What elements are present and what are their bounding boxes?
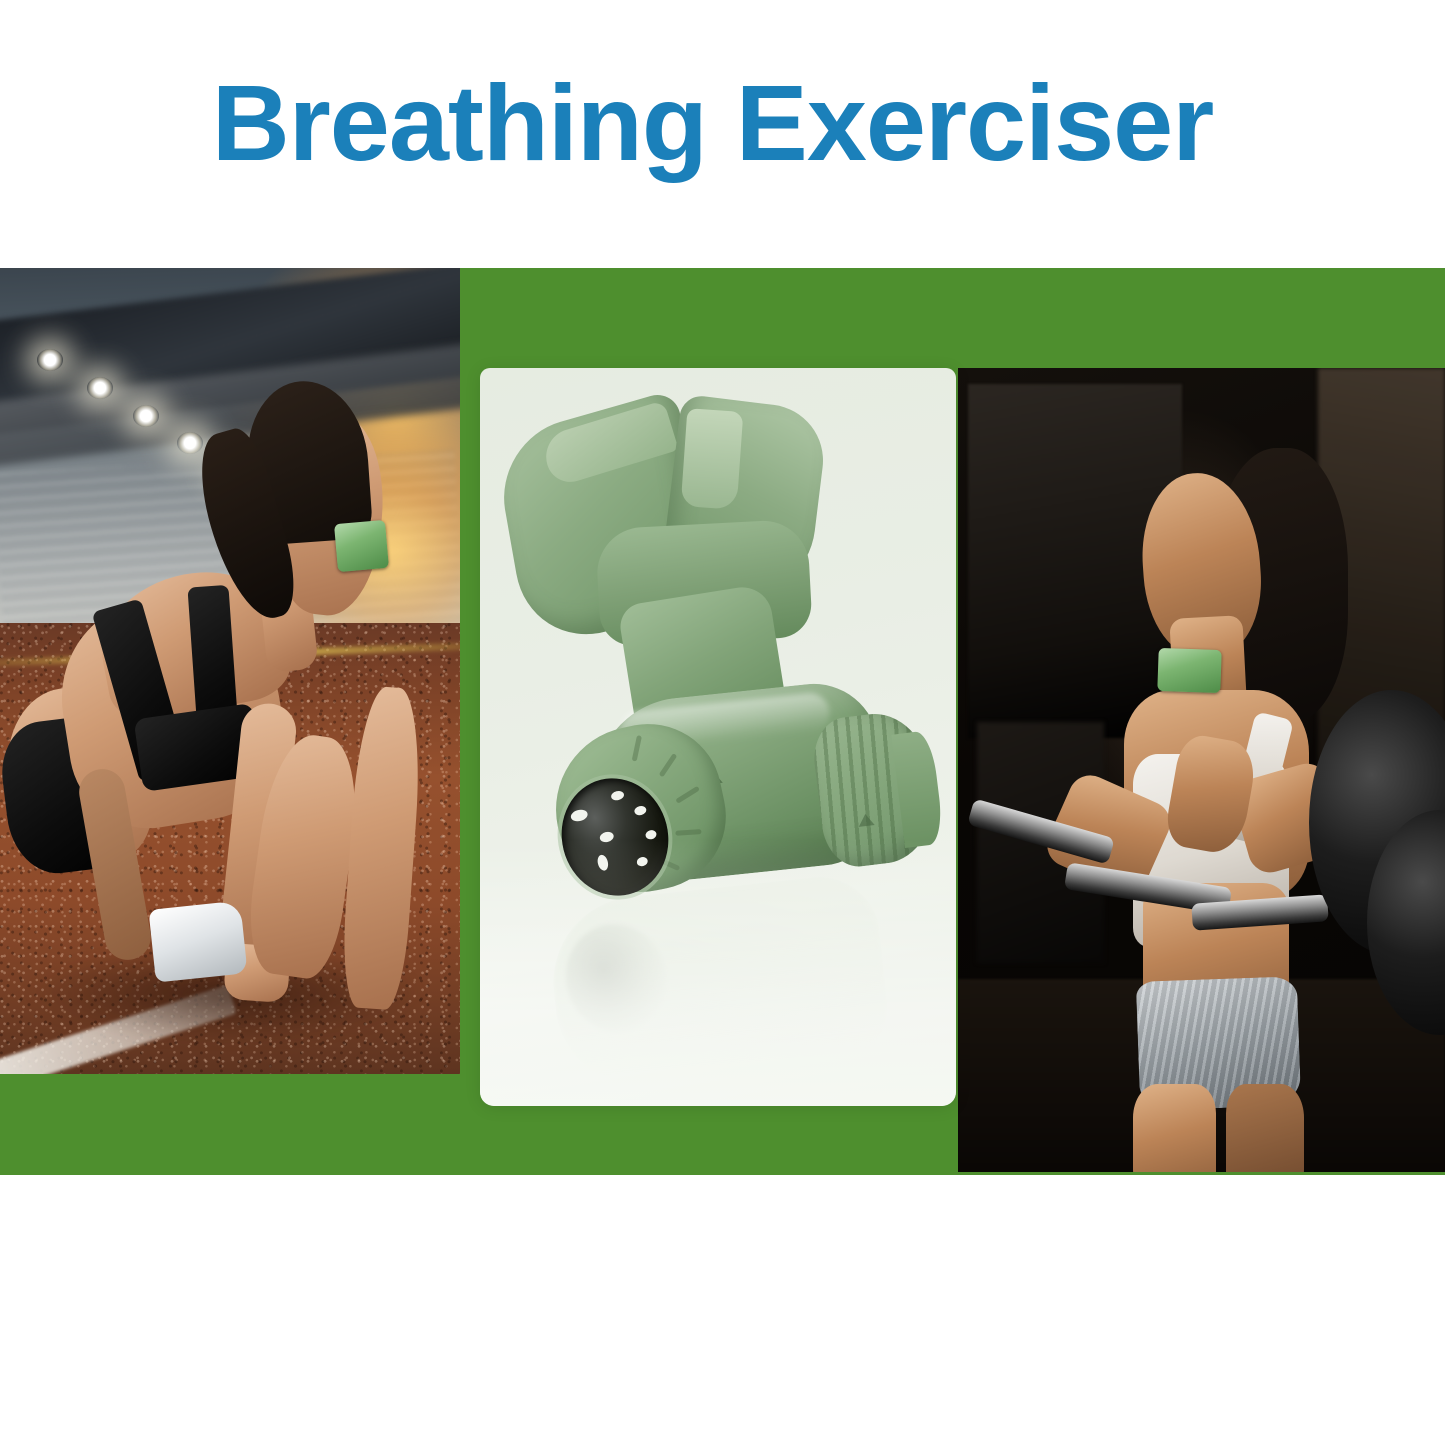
sprinter-photo [0, 268, 460, 1074]
dial-ridge [658, 753, 677, 777]
dial-ridge [675, 786, 700, 804]
runner-figure [0, 268, 460, 1074]
dial-ridge [631, 735, 641, 761]
runner-leg-rear [338, 685, 425, 1011]
page-title: Breathing Exerciser [0, 66, 1425, 179]
runner-shoe [148, 900, 247, 982]
title-band: Breathing Exerciser [0, 0, 1445, 268]
gym-photo [958, 368, 1445, 1172]
dial-ridge [676, 829, 702, 836]
breathing-exerciser-device [502, 396, 934, 916]
mouthpiece-right-tab [681, 408, 744, 510]
mouth-device-icon [1157, 648, 1222, 694]
collar-arrow-icon [857, 813, 874, 827]
lifter-figure [958, 368, 1445, 1172]
card-floor-glow [480, 840, 956, 1106]
lifter-thigh-left [1133, 1084, 1216, 1172]
product-card [480, 368, 956, 1106]
mouth-device-icon [334, 520, 389, 573]
lifter-thigh-right [1226, 1084, 1304, 1172]
product-marketing-image: Breathing Exerciser [0, 0, 1445, 1445]
